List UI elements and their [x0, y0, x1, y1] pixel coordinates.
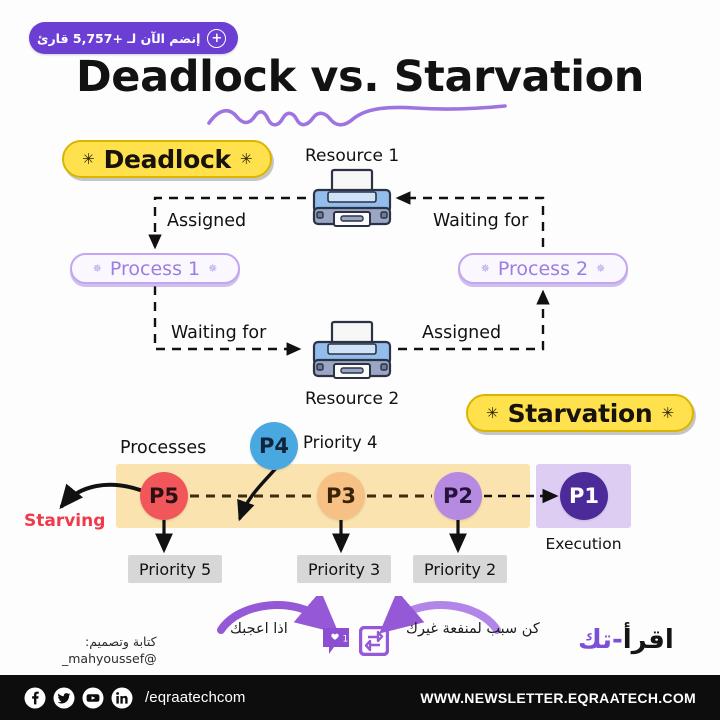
process-node-p1: P1	[560, 472, 608, 520]
linkedin-icon[interactable]	[111, 687, 133, 709]
process-2-label: Process 2	[498, 258, 588, 280]
edge-label-assigned-1: Assigned	[164, 211, 249, 231]
credit-line-2: @mahyoussef_	[62, 651, 157, 668]
footer-url: WWW.NEWSLETTER.EQRAATECH.COM	[420, 690, 696, 706]
cta-right-text: كن سبب لمنفعة غيرك	[406, 621, 540, 637]
svg-text:1: 1	[343, 635, 349, 645]
footer-social-group: /eqraatechcom	[24, 687, 246, 709]
footer-bar: /eqraatechcom WWW.NEWSLETTER.EQRAATECH.C…	[0, 675, 720, 720]
youtube-icon[interactable]	[82, 687, 104, 709]
credit-block: كتابة وتصميم: @mahyoussef_	[62, 634, 157, 668]
facebook-icon[interactable]	[24, 687, 46, 709]
priority-box-2: Priority 2	[413, 555, 507, 583]
brand-logo: اقرأ-تك	[578, 625, 674, 655]
resource-1-caption: Resource 1	[305, 146, 399, 166]
logo-black-part: اقرأ	[623, 625, 674, 655]
engagement-icons[interactable]: 1	[320, 625, 389, 657]
priority-box-5: Priority 5	[128, 555, 222, 583]
asterisk-icon: ✵	[208, 262, 217, 275]
infographic-canvas: + إنضم الآن لـ +5,757 قارئ Deadlock vs. …	[0, 0, 720, 720]
edge-label-waiting-2: Waiting for	[168, 323, 269, 343]
edge-label-assigned-2: Assigned	[419, 323, 504, 343]
priority-box-3: Priority 3	[297, 555, 391, 583]
logo-purple-part: -تك	[578, 625, 623, 655]
process-2-node: ✵ Process 2 ✵	[458, 253, 628, 284]
repost-icon[interactable]	[359, 626, 389, 656]
printer-icon	[306, 168, 398, 230]
footer-handle: /eqraatechcom	[145, 689, 246, 706]
process-node-p4: P4	[250, 422, 298, 470]
process-1-label: Process 1	[110, 258, 200, 280]
asterisk-icon: ✵	[481, 262, 490, 275]
credit-line-1: كتابة وتصميم:	[62, 634, 157, 651]
process-node-p2: P2	[434, 472, 482, 520]
twitter-icon[interactable]	[53, 687, 75, 709]
process-node-p3: P3	[317, 472, 365, 520]
printer-icon	[306, 320, 398, 382]
process-1-node: ✵ Process 1 ✵	[70, 253, 240, 284]
edge-label-waiting-1: Waiting for	[430, 211, 531, 231]
process-node-p5: P5	[140, 472, 188, 520]
asterisk-icon: ✵	[596, 262, 605, 275]
cta-left-text: اذا اعجبك	[230, 621, 288, 637]
heart-comment-icon[interactable]: 1	[320, 625, 352, 657]
asterisk-icon: ✵	[93, 262, 102, 275]
